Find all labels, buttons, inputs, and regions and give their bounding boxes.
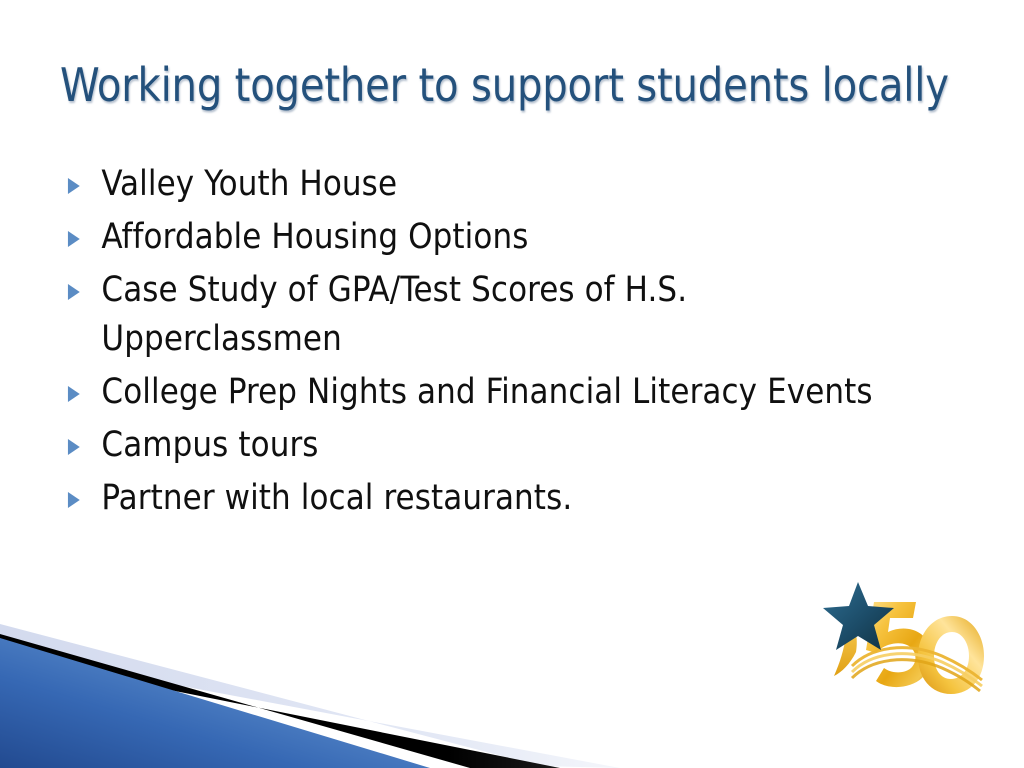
bullet-item: Case Study of GPA/Test Scores of H.S. Up… xyxy=(64,266,931,364)
bullet-text: Campus tours xyxy=(101,425,318,465)
bullet-text: Case Study of GPA/Test Scores of H.S. Up… xyxy=(101,270,687,359)
bottom-left-banner-graphic xyxy=(0,608,620,768)
bullet-item: Campus tours xyxy=(64,421,931,470)
digit-zero xyxy=(918,616,984,694)
bullet-text: College Prep Nights and Financial Litera… xyxy=(101,372,872,412)
bullet-item: Valley Youth House xyxy=(64,160,931,209)
bullet-text: Valley Youth House xyxy=(101,164,397,204)
bullet-list: Valley Youth House Affordable Housing Op… xyxy=(64,160,944,527)
triangle-bullet-icon xyxy=(68,284,80,300)
bullet-item: Affordable Housing Options xyxy=(64,213,931,262)
bullet-item: Partner with local restaurants. xyxy=(64,474,931,523)
triangle-bullet-icon xyxy=(68,439,80,455)
slide-title: Working together to support students loc… xyxy=(60,58,952,112)
triangle-bullet-icon xyxy=(68,492,80,508)
triangle-bullet-icon xyxy=(68,386,80,402)
triangle-bullet-icon xyxy=(68,178,80,194)
bullet-text: Affordable Housing Options xyxy=(101,217,528,257)
50-anniversary-logo xyxy=(812,580,992,710)
slide: Working together to support students loc… xyxy=(0,0,1024,768)
triangle-bullet-icon xyxy=(68,231,80,247)
bullet-item: College Prep Nights and Financial Litera… xyxy=(64,368,931,417)
bullet-text: Partner with local restaurants. xyxy=(101,478,572,518)
